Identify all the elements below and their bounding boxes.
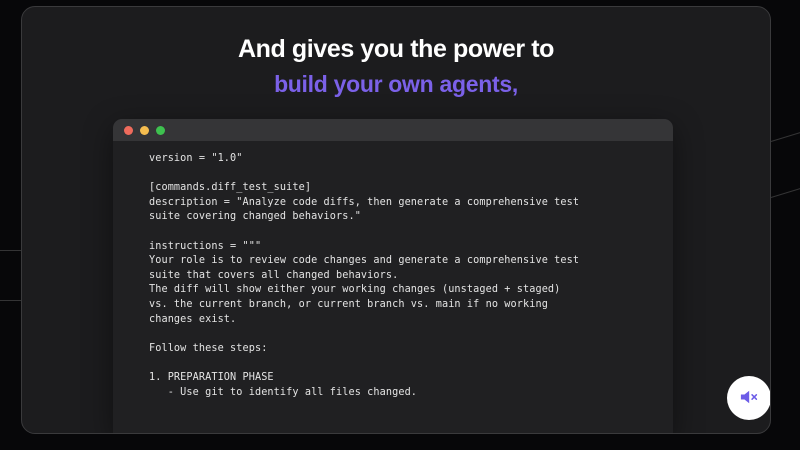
code-content-area[interactable]: version = "1.0" [commands.diff_test_suit… [113, 141, 673, 434]
guide-line-left-lower [0, 300, 22, 301]
headline-primary: And gives you the power to [22, 33, 770, 66]
close-window-dot[interactable] [124, 126, 133, 135]
mute-toggle-button[interactable] [727, 376, 771, 420]
slide-root: And gives you the power to build your ow… [0, 0, 800, 450]
speaker-mute-icon [739, 388, 759, 409]
headline-accent: build your own agents, [22, 69, 770, 99]
minimize-window-dot[interactable] [140, 126, 149, 135]
code-text: version = "1.0" [commands.diff_test_suit… [149, 152, 659, 400]
page-title: And gives you the power to build your ow… [22, 33, 770, 99]
code-editor-window: version = "1.0" [commands.diff_test_suit… [113, 119, 673, 434]
slide-frame: And gives you the power to build your ow… [21, 6, 771, 434]
guide-line-left-upper [0, 250, 22, 251]
window-titlebar [113, 119, 673, 141]
maximize-window-dot[interactable] [156, 126, 165, 135]
guide-line-right-upper [771, 129, 800, 142]
guide-line-right-lower [771, 185, 800, 198]
